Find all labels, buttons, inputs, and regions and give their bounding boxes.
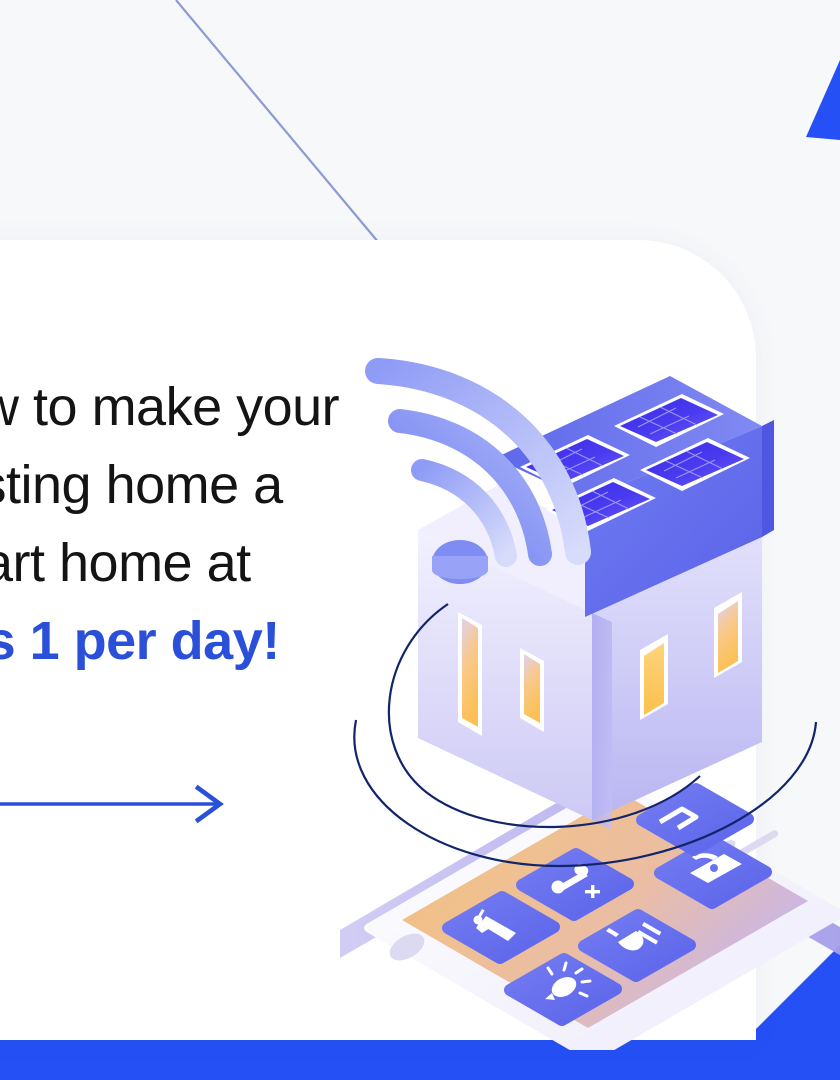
window-left: [520, 648, 544, 732]
arrow-right-icon[interactable]: [0, 782, 240, 826]
promo-card-canvas: How to make your existing home a smart h…: [0, 0, 840, 1080]
illustration-smart-home: [330, 330, 840, 1050]
smartphone-with-app-grid: [340, 782, 840, 1050]
wifi-signal-icon: [378, 371, 578, 584]
door-left: [458, 612, 482, 736]
corner-triangle-decoration: [750, 55, 840, 185]
illustration-svg: [330, 330, 840, 1050]
